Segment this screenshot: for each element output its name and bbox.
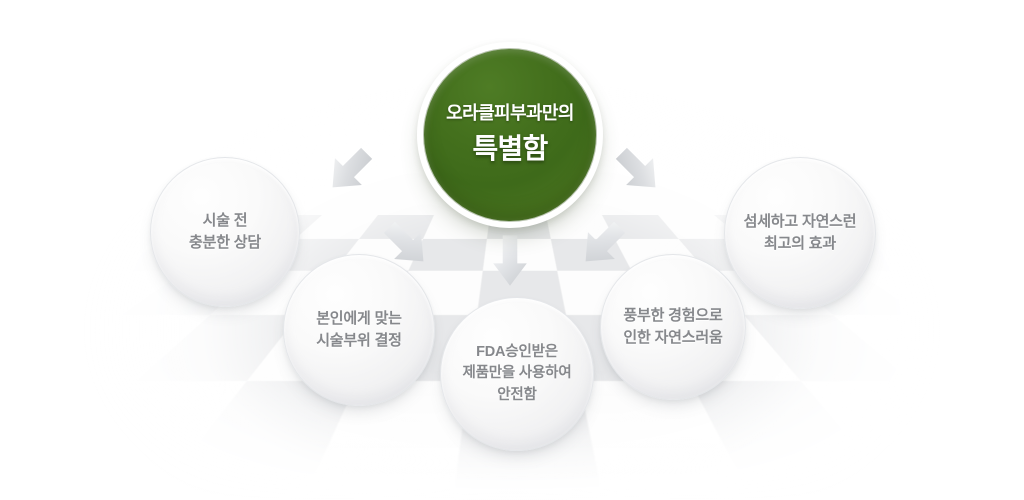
diagram-canvas: 시술 전 충분한 상담 본인에게 맞는 시술부위 결정 FDA승인받은 제품만을… [0, 0, 1024, 500]
node-natural-line-1: 풍부한 경험으로 [623, 305, 722, 327]
node-center-label: 오라클피부과만의 특별함 [446, 100, 574, 170]
node-consult-label: 시술 전 충분한 상담 [189, 210, 261, 254]
node-fda-line-3: 안전함 [463, 385, 572, 406]
node-effect[interactable]: 섬세하고 자연스런 최고의 효과 [724, 157, 876, 309]
node-natural-label: 풍부한 경험으로 인한 자연스러움 [623, 305, 722, 349]
node-center-line-2: 특별함 [446, 129, 574, 170]
node-effect-line-1: 섬세하고 자연스런 [744, 211, 857, 233]
node-natural[interactable]: 풍부한 경험으로 인한 자연스러움 [600, 254, 746, 400]
node-consult-line-2: 충분한 상담 [189, 232, 261, 254]
node-area[interactable]: 본인에게 맞는 시술부위 결정 [283, 254, 435, 406]
node-consult-line-1: 시술 전 [189, 210, 261, 232]
node-center-highlight[interactable]: 오라클피부과만의 특별함 [417, 42, 603, 228]
node-fda-line-2: 제품만을 사용하여 [463, 363, 572, 384]
node-fda-label: FDA승인받은 제품만을 사용하여 안전함 [463, 342, 572, 405]
node-effect-line-2: 최고의 효과 [744, 233, 857, 255]
node-area-line-1: 본인에게 맞는 [316, 308, 402, 330]
node-fda[interactable]: FDA승인받은 제품만을 사용하여 안전함 [440, 297, 594, 451]
node-center-core: 오라클피부과만의 특별함 [424, 49, 596, 221]
node-effect-label: 섬세하고 자연스런 최고의 효과 [744, 211, 857, 255]
node-fda-line-1: FDA승인받은 [463, 342, 572, 363]
node-center-line-1: 오라클피부과만의 [446, 100, 574, 126]
node-area-line-2: 시술부위 결정 [316, 330, 402, 352]
node-consult[interactable]: 시술 전 충분한 상담 [150, 157, 300, 307]
node-area-label: 본인에게 맞는 시술부위 결정 [316, 308, 402, 352]
node-natural-line-2: 인한 자연스러움 [623, 327, 722, 349]
